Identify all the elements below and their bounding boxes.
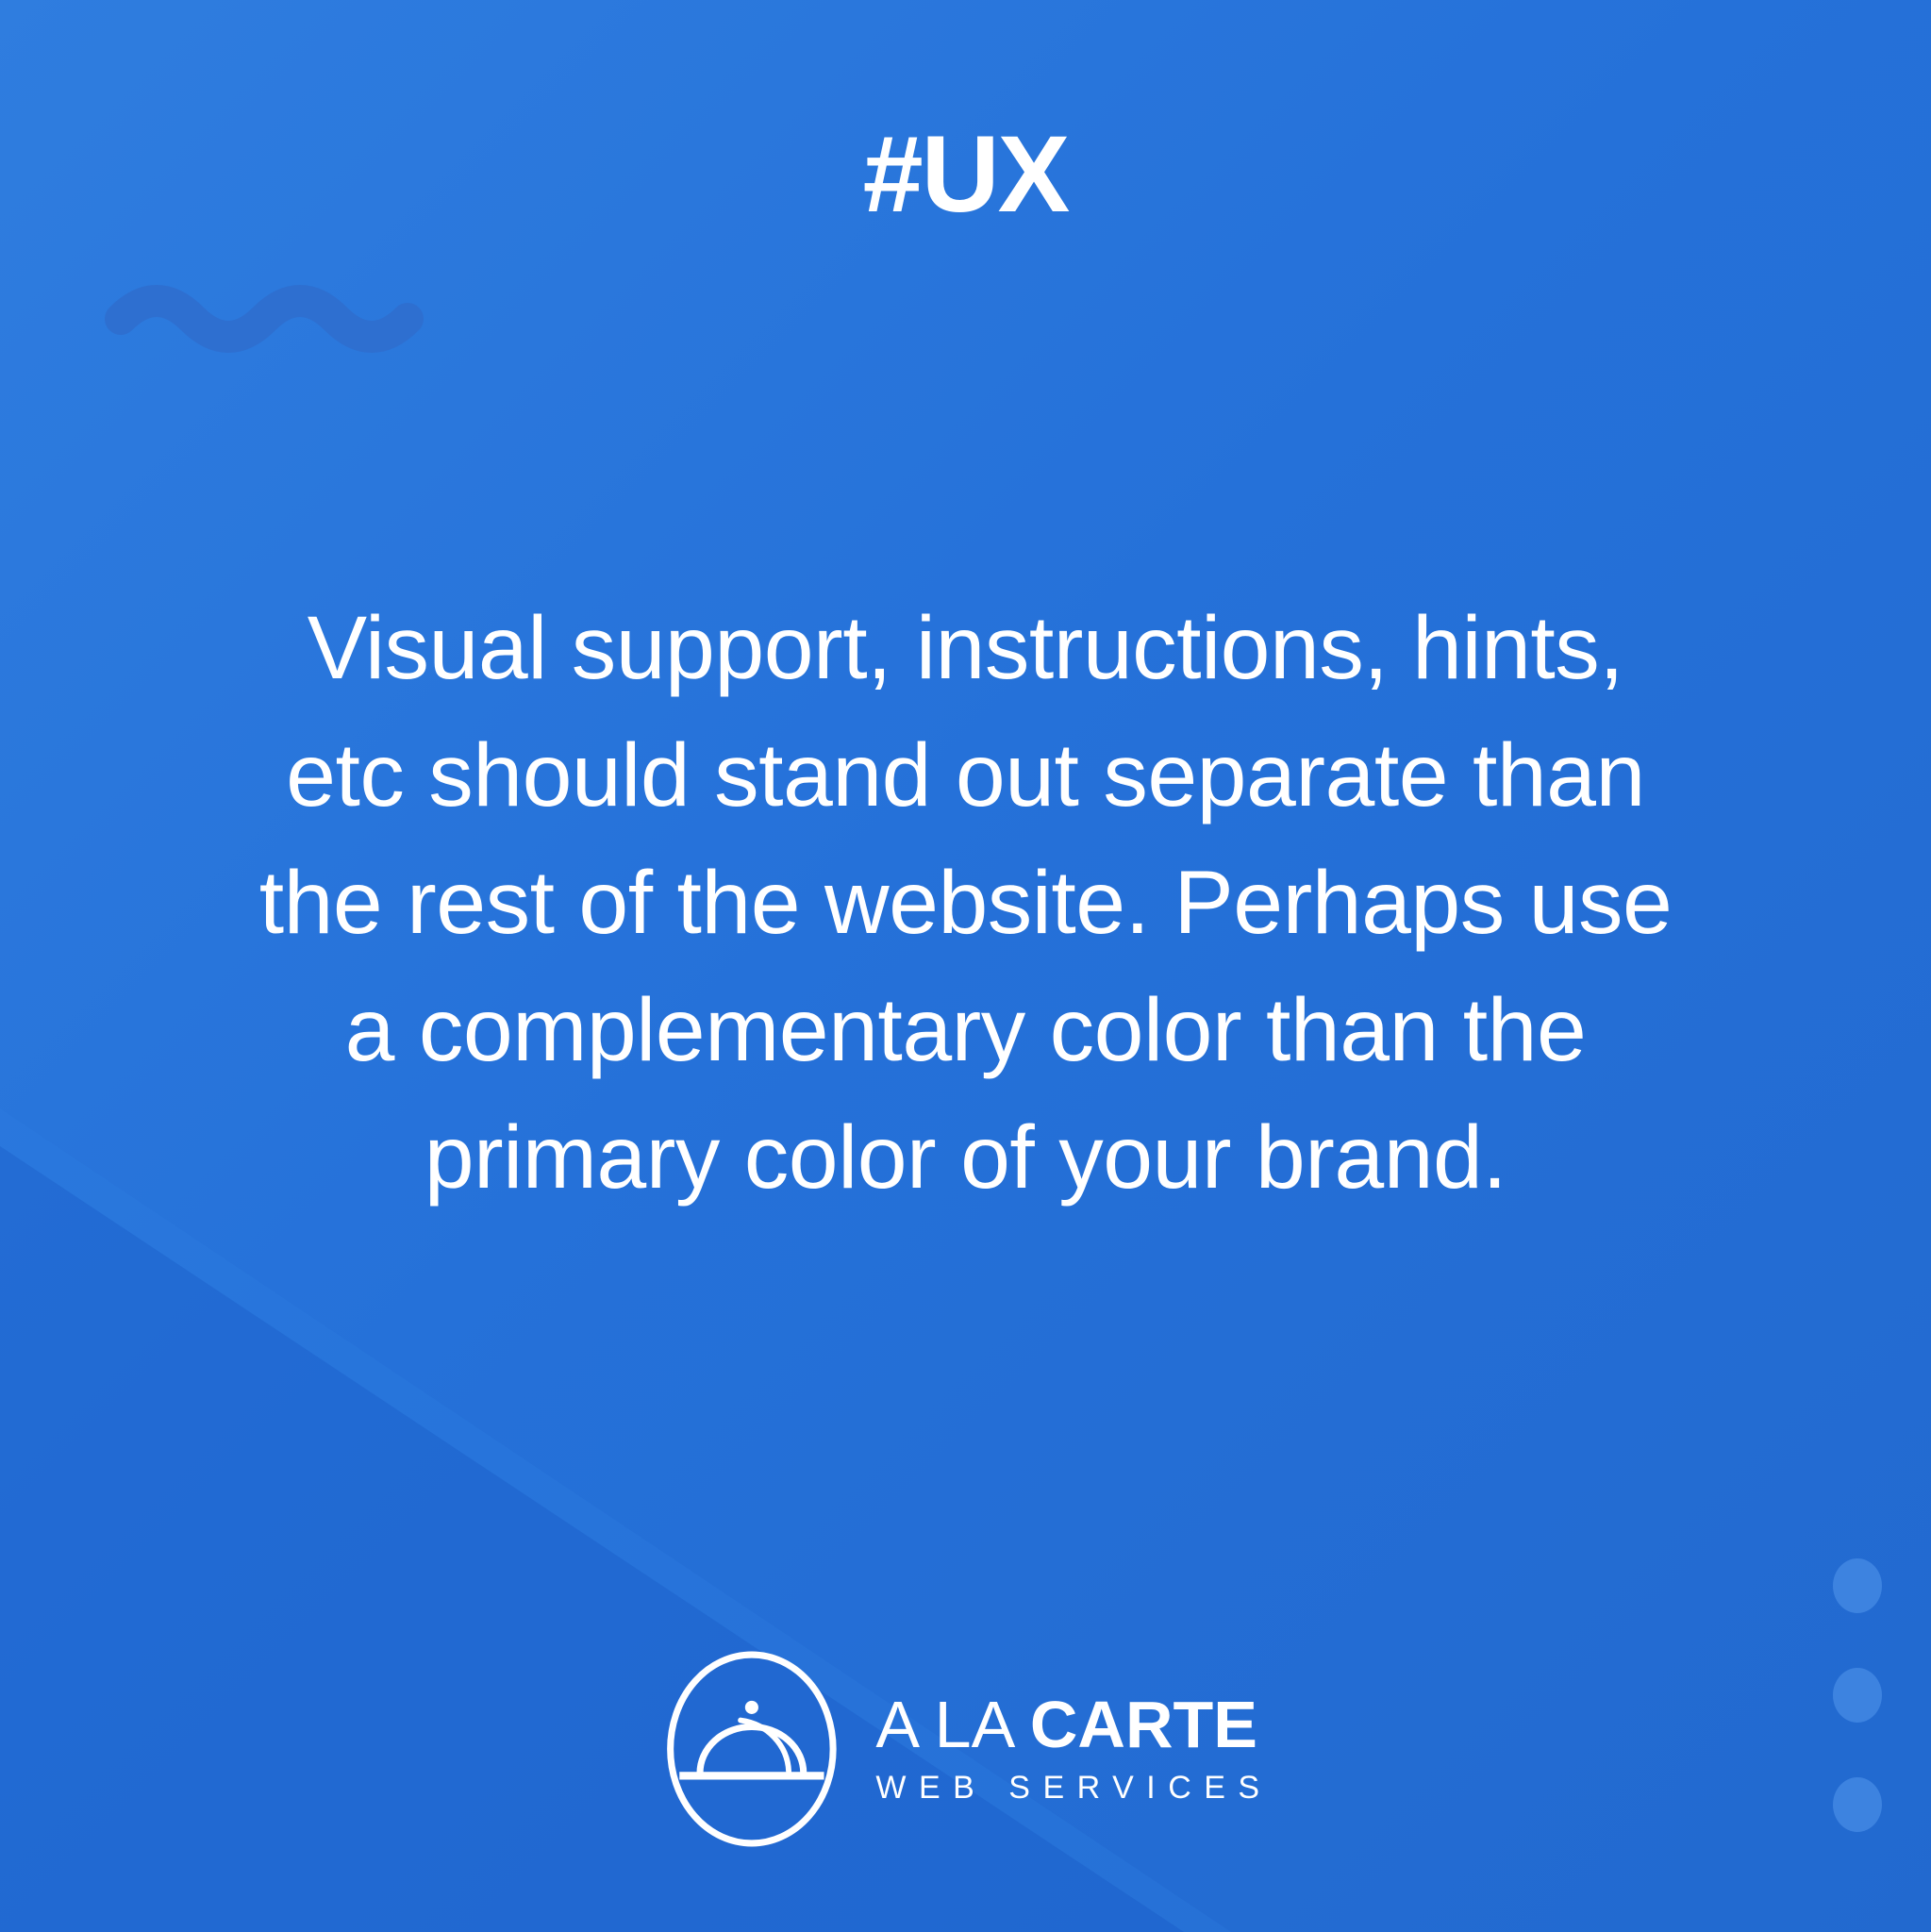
social-post-card: #UX Visual support, instructions, hints,…: [0, 0, 1931, 1932]
brand-name: A LA CARTE: [875, 1691, 1272, 1758]
brand-wordmark: A LA CARTE WEB SERVICES: [875, 1691, 1272, 1807]
brand-name-bold: CARTE: [1030, 1688, 1257, 1761]
brand-tagline: WEB SERVICES: [875, 1770, 1272, 1807]
brand-logo: A LA CARTE WEB SERVICES: [658, 1647, 1272, 1851]
dot-decoration-group: [1833, 1558, 1882, 1832]
body-line: the rest of the website. Perhaps use: [117, 840, 1815, 967]
page-title: #UX: [0, 121, 1931, 229]
body-line: Visual support, instructions, hints,: [117, 585, 1815, 712]
decor-dot: [1833, 1777, 1882, 1832]
decor-dot: [1833, 1668, 1882, 1723]
body-copy: Visual support, instructions, hints, etc…: [117, 585, 1815, 1221]
body-line: primary color of your brand.: [117, 1094, 1815, 1222]
decor-dot: [1833, 1558, 1882, 1613]
squiggle-wave-icon: [111, 294, 413, 368]
body-line: a complementary color than the: [117, 967, 1815, 1094]
cloche-circle-icon: [658, 1647, 843, 1851]
body-line: etc should stand out separate than: [117, 712, 1815, 840]
brand-name-light: A LA: [875, 1688, 1029, 1761]
